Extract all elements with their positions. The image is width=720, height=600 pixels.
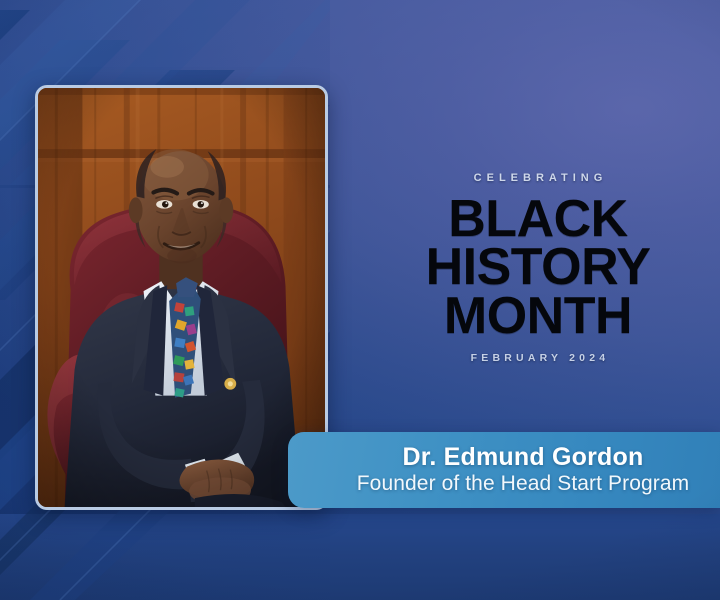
headline-line-month: MONTH — [388, 292, 688, 340]
headline-line-black: BLACK — [388, 195, 688, 243]
black-history-month-poster: CELEBRATING BLACK HISTORY MONTH FEBRUARY… — [0, 0, 720, 600]
portrait-photo — [38, 88, 325, 507]
portrait-photo-frame — [35, 85, 328, 510]
date-stamp: FEBRUARY 2024 — [388, 352, 688, 364]
headline-block: CELEBRATING BLACK HISTORY MONTH FEBRUARY… — [388, 172, 688, 364]
celebrating-kicker: CELEBRATING — [388, 172, 688, 184]
honoree-name: Dr. Edmund Gordon — [403, 444, 644, 471]
headline-line-history: HISTORY — [388, 243, 688, 291]
honoree-name-banner: Dr. Edmund Gordon Founder of the Head St… — [288, 432, 720, 508]
honoree-title: Founder of the Head Start Program — [357, 472, 689, 497]
